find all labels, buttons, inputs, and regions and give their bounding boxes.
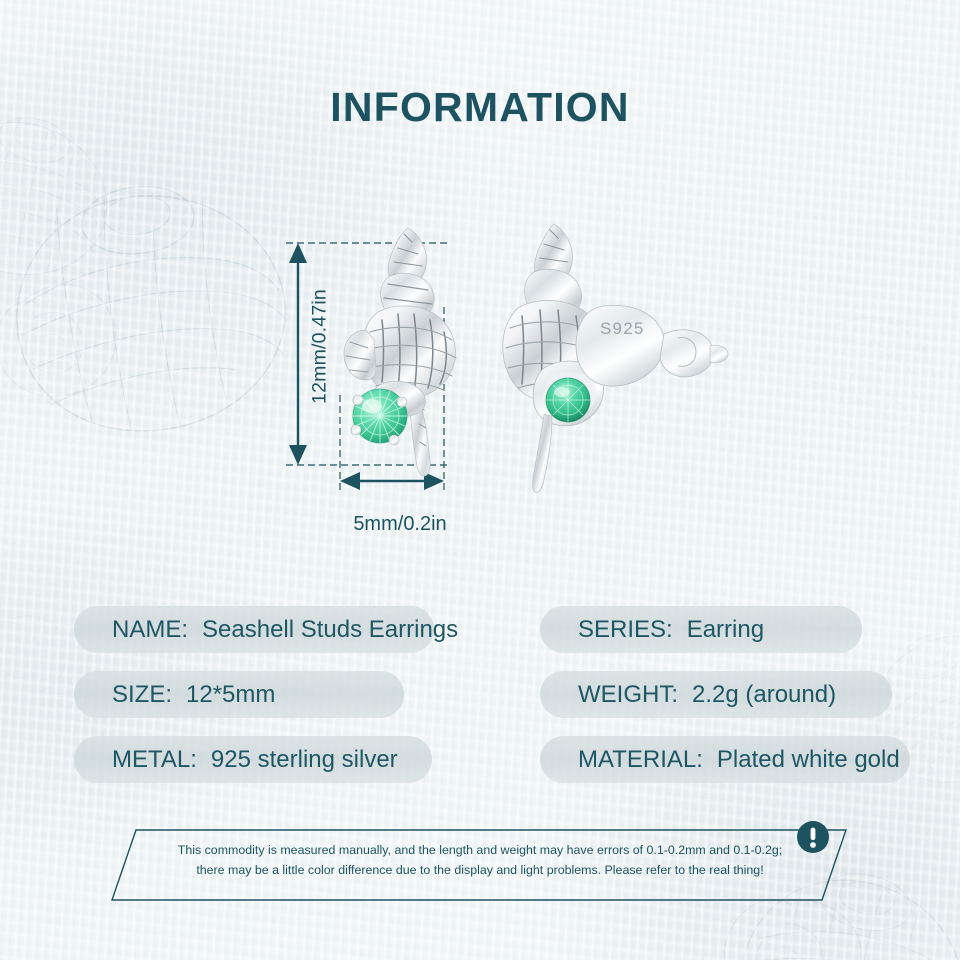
spec-cell-name: NAME: Seashell Studs Earrings [74, 606, 434, 653]
disclaimer-text: This commodity is measured manually, and… [170, 840, 790, 880]
page-title: INFORMATION [0, 84, 960, 131]
disclaimer-banner: This commodity is measured manually, and… [110, 826, 850, 904]
spec-value-weight: 2.2g (around) [692, 681, 836, 709]
spec-value-series: Earring [687, 616, 764, 644]
spec-value-material: Plated white gold [717, 746, 900, 774]
spec-value-name: Seashell Studs Earrings [202, 616, 458, 644]
spec-row: NAME: Seashell Studs Earrings SERIES: Ea… [0, 604, 960, 669]
silver-purity-stamp: S925 [600, 319, 645, 338]
spec-row: SIZE: 12*5mm WEIGHT: 2.2g (around) [0, 669, 960, 734]
spec-key-metal: METAL: [112, 746, 197, 774]
spec-key-weight: WEIGHT: [578, 681, 678, 709]
spec-value-size: 12*5mm [186, 681, 275, 709]
spec-key-series: SERIES: [578, 616, 673, 644]
warning-exclamation-icon [796, 820, 830, 854]
spec-key-size: SIZE: [112, 681, 172, 709]
spec-table: NAME: Seashell Studs Earrings SERIES: Ea… [0, 604, 960, 799]
product-figure: 12mm/0.47in 5mm/0.2in [240, 225, 720, 555]
spec-key-name: NAME: [112, 616, 188, 644]
spec-cell-series: SERIES: Earring [540, 606, 862, 653]
spec-cell-size: SIZE: 12*5mm [74, 671, 404, 718]
spec-row: METAL: 925 sterling silver MATERIAL: Pla… [0, 734, 960, 799]
dimension-width-label: 5mm/0.2in [290, 513, 510, 536]
spec-value-metal: 925 sterling silver [211, 746, 398, 774]
disclaimer-line-1: This commodity is measured manually, and… [170, 840, 790, 860]
spec-cell-metal: METAL: 925 sterling silver [74, 736, 432, 783]
spec-cell-weight: WEIGHT: 2.2g (around) [540, 671, 892, 718]
spec-key-material: MATERIAL: [578, 746, 703, 774]
spec-cell-material: MATERIAL: Plated white gold [540, 736, 910, 783]
disclaimer-line-2: there may be a little color difference d… [170, 860, 790, 880]
product-image-seashell-earrings: S925 [300, 220, 730, 510]
